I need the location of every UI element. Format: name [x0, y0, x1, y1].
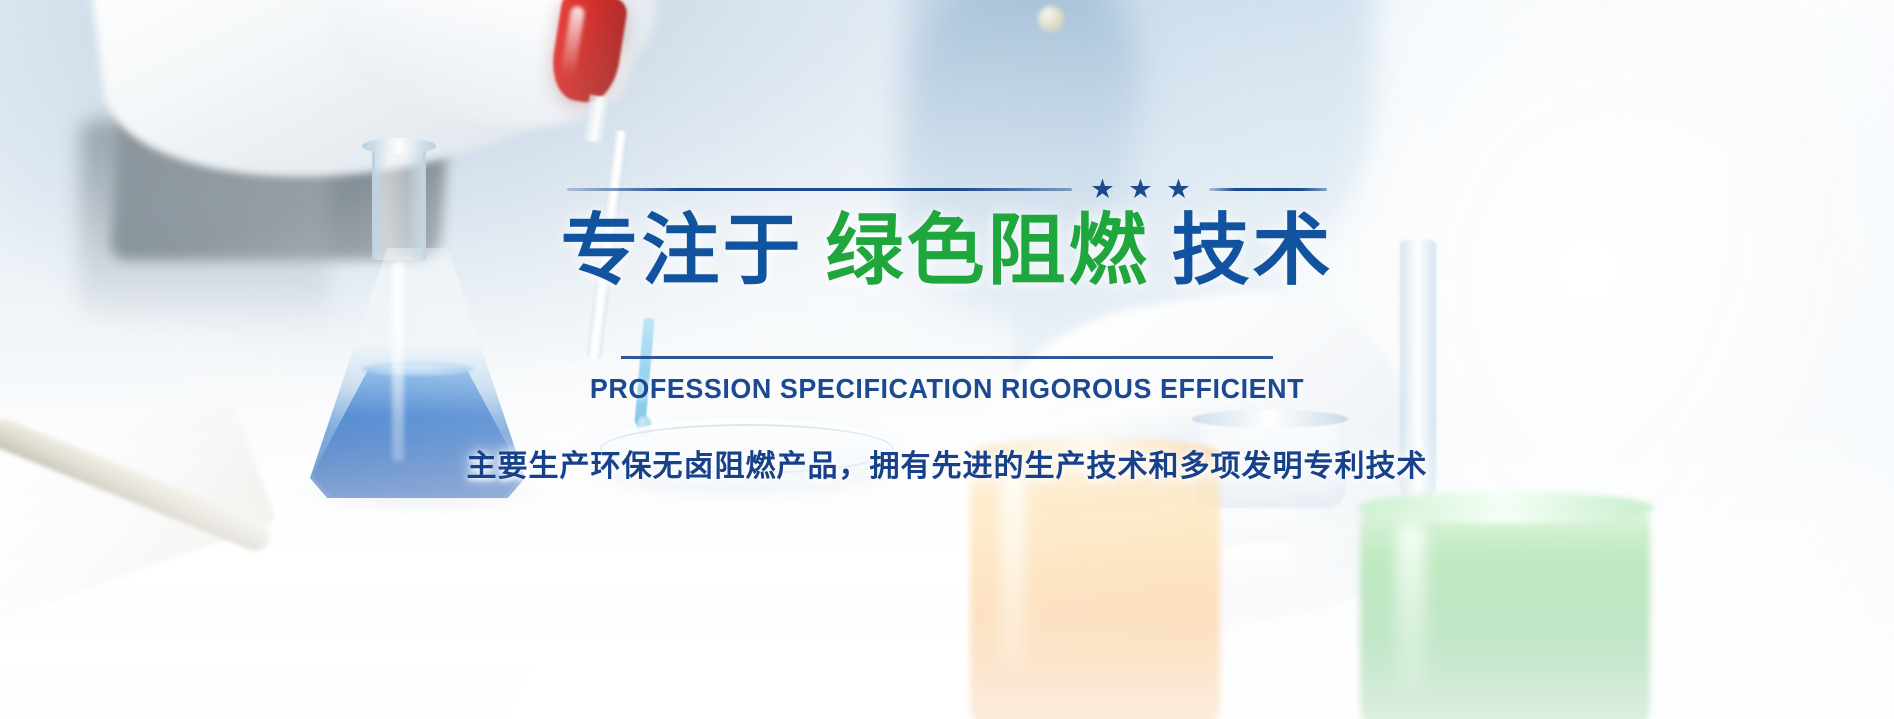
- hero-banner: 专注于绿色阻燃技术 PROFESSION SPECIFICATION RIGOR…: [0, 0, 1894, 719]
- english-divider-rule: [621, 356, 1273, 359]
- decorative-rule-right: [1209, 188, 1327, 191]
- star-icon: [1168, 179, 1189, 200]
- star-icon: [1092, 179, 1113, 200]
- headline-part-3: 技术: [1172, 206, 1334, 294]
- banner-content: 专注于绿色阻燃技术 PROFESSION SPECIFICATION RIGOR…: [0, 0, 1894, 719]
- star-icon: [1130, 179, 1151, 200]
- english-tagline-block: PROFESSION SPECIFICATION RIGOROUS EFFICI…: [575, 356, 1319, 405]
- chinese-subtitle: 主要生产环保无卤阻燃产品，拥有先进的生产技术和多项发明专利技术: [467, 441, 1428, 485]
- english-tagline: PROFESSION SPECIFICATION RIGOROUS EFFICI…: [590, 373, 1304, 405]
- headline-part-2: 绿色阻燃: [825, 206, 1149, 294]
- page-title: 专注于绿色阻燃技术: [560, 208, 1333, 292]
- star-group: [1092, 179, 1189, 200]
- headline-part-1: 专注于: [560, 206, 803, 294]
- decorative-rule-left: [567, 188, 1072, 191]
- decorative-rule-row: [567, 176, 1327, 202]
